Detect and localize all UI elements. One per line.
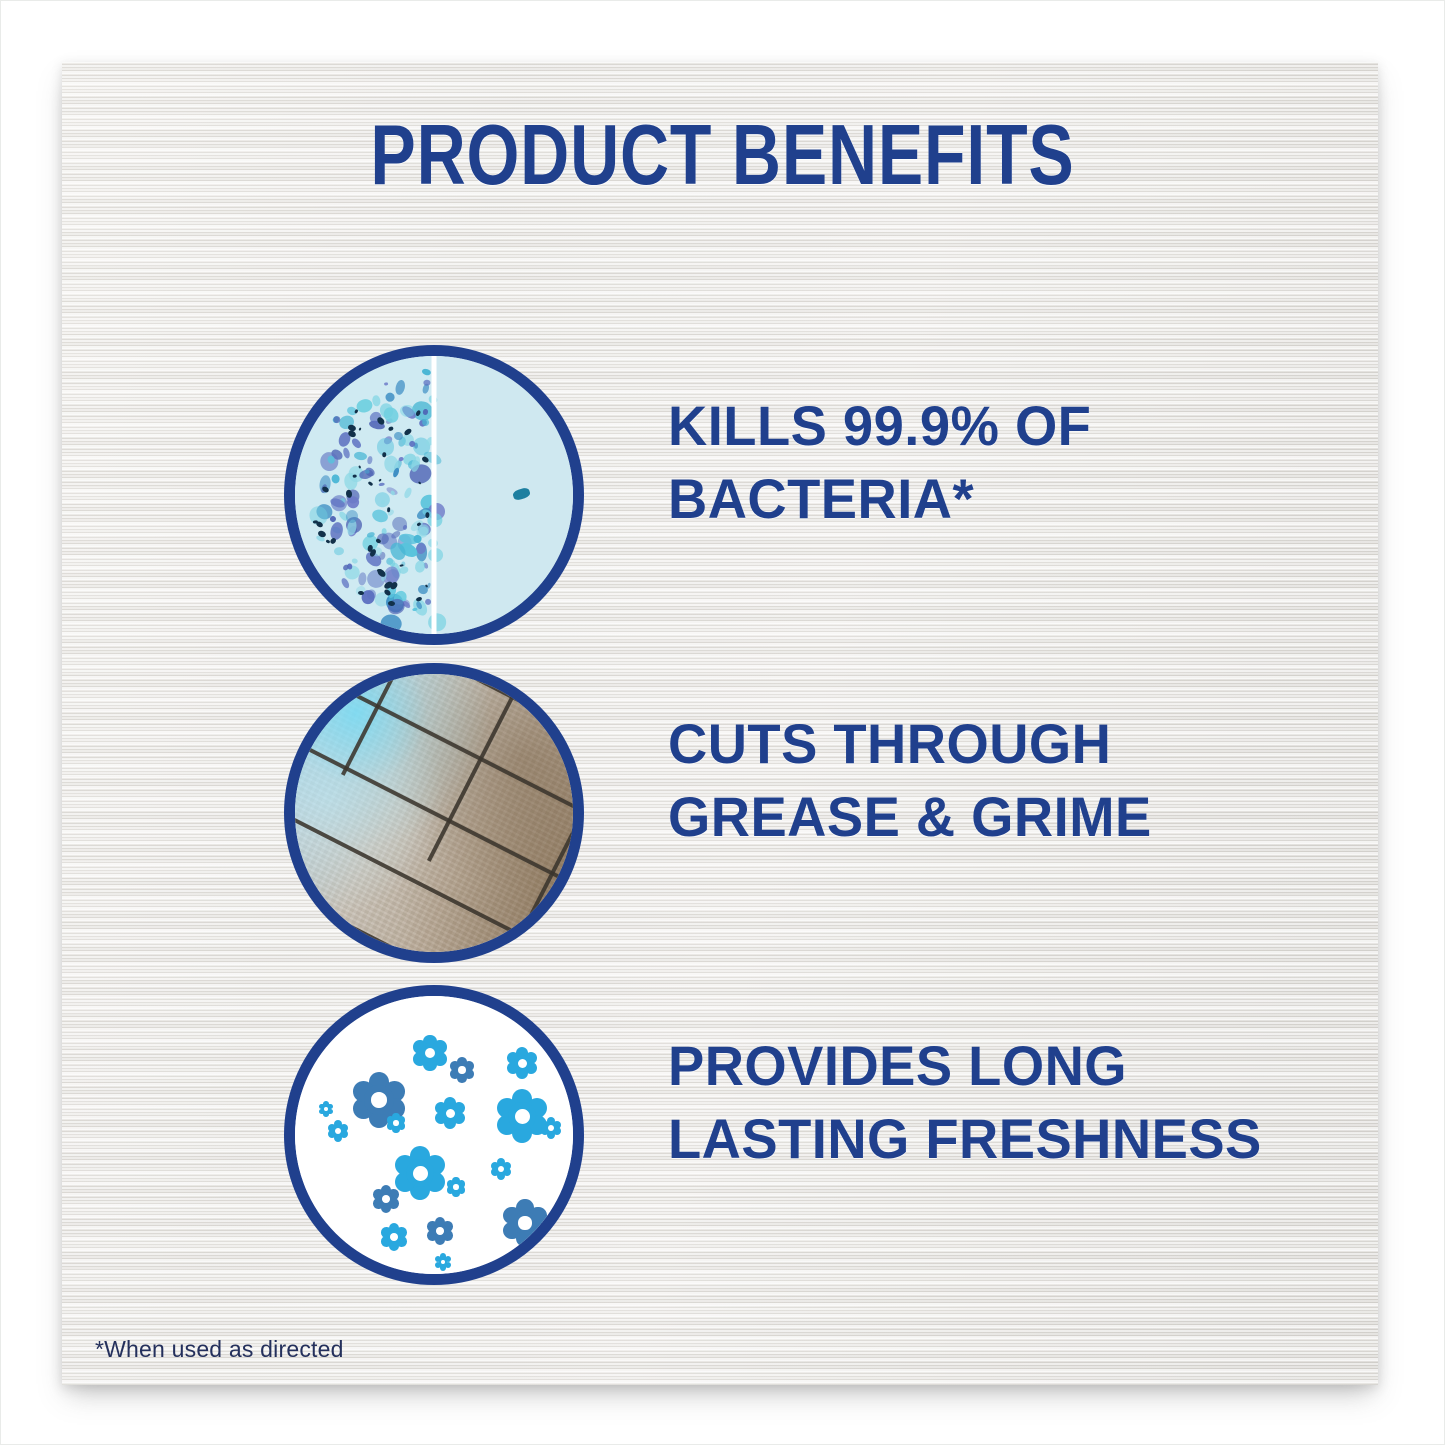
tile-floor-graphic (295, 674, 573, 952)
flower-icon (373, 1186, 399, 1212)
flower-icon (395, 1148, 445, 1198)
benefit-icon-wrap-1 (284, 345, 584, 645)
benefit-text-cuts-grease: CUTS THROUGH GREASE & GRIME (668, 708, 1152, 854)
benefit-text-kills-bacteria: KILLS 99.9% OF BACTERIA* (668, 390, 1091, 536)
flower-icon (413, 1036, 447, 1070)
flower-center (446, 1109, 455, 1118)
flower-icon (497, 1091, 547, 1141)
flower-center (498, 1166, 504, 1172)
benefit-text-freshness: PROVIDES LONG LASTING FRESHNESS (668, 1030, 1262, 1176)
flower-center (453, 1184, 458, 1189)
bacteria-dark-dot (377, 569, 382, 573)
bacteria-dark-dot (367, 544, 373, 551)
flower-center (436, 1227, 444, 1235)
petri-divider-line (432, 356, 437, 634)
flower-icon (447, 1178, 465, 1196)
benefit-line-2: BACTERIA* (668, 463, 1091, 536)
page-title: PRODUCT BENEFITS (145, 113, 1301, 198)
flower-center (518, 1216, 531, 1229)
footnote-disclaimer: *When used as directed (95, 1336, 344, 1363)
flower-icon (541, 1118, 561, 1138)
benefit-icon-wrap-2 (284, 663, 584, 963)
benefit-line-2: LASTING FRESHNESS (668, 1103, 1262, 1176)
flower-center (458, 1066, 465, 1073)
flower-center (390, 1233, 398, 1241)
flower-center (518, 1059, 527, 1068)
benefit-row-kills-bacteria: KILLS 99.9% OF BACTERIA* (0, 345, 1445, 645)
flower-center (371, 1092, 387, 1108)
petri-dish-graphic (295, 356, 573, 634)
flower-icon (319, 1102, 333, 1116)
flower-icon (381, 1224, 407, 1250)
flower-icon (450, 1058, 474, 1082)
bacteria-speck (367, 589, 376, 599)
flower-icon (328, 1121, 348, 1141)
benefit-row-freshness: PROVIDES LONG LASTING FRESHNESS (0, 985, 1445, 1285)
tile-floor-clean-dirty-icon (284, 663, 584, 963)
benefit-line-2: GREASE & GRIME (668, 781, 1152, 854)
bacteria-dark-dot (353, 474, 357, 477)
flower-icon (427, 1218, 453, 1244)
bacteria-speck (332, 416, 339, 423)
petri-clean-half (434, 356, 573, 634)
bacteria-dark-dot (399, 563, 403, 566)
flowers-graphic (295, 996, 573, 1274)
flower-icon (503, 1201, 547, 1245)
benefit-icon-wrap-3 (284, 985, 584, 1285)
benefit-line-1: KILLS 99.9% OF (668, 390, 1091, 463)
flower-center (382, 1195, 390, 1203)
flower-icon (435, 1098, 465, 1128)
flower-center (335, 1128, 341, 1134)
flower-center (548, 1125, 554, 1131)
flower-icon (435, 1254, 451, 1270)
flowers-freshness-icon (284, 985, 584, 1285)
flower-center (393, 1120, 398, 1125)
benefit-row-cuts-grease: CUTS THROUGH GREASE & GRIME (0, 663, 1445, 963)
flower-icon (387, 1114, 405, 1132)
bacteria-dark-dot (424, 512, 429, 519)
flower-center (413, 1166, 428, 1181)
benefit-line-1: CUTS THROUGH (668, 708, 1152, 781)
flower-center (515, 1109, 530, 1124)
benefit-line-1: PROVIDES LONG (668, 1030, 1262, 1103)
flower-icon (507, 1048, 537, 1078)
petri-dish-before-after-icon (284, 345, 584, 645)
flower-icon (491, 1159, 511, 1179)
product-benefits-infographic: PRODUCT BENEFITS KILLS 99.9% OF BACTERIA… (0, 0, 1445, 1445)
